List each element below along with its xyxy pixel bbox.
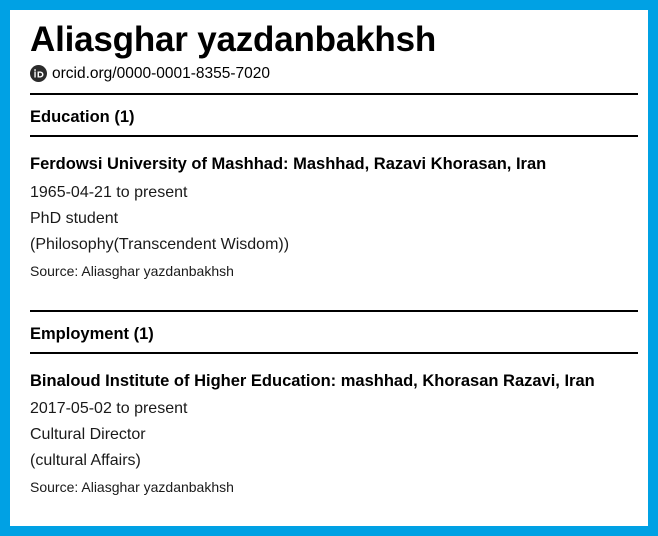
- employment-role: Cultural Director: [30, 422, 638, 448]
- education-source: Source: Aliasghar yazdanbakhsh: [30, 261, 638, 282]
- employment-department: (cultural Affairs): [30, 448, 638, 474]
- employment-organization: Binaloud Institute of Higher Education: …: [30, 371, 638, 392]
- orcid-profile-card: Aliasghar yazdanbakhsh orcid.org/0000-00…: [0, 0, 658, 536]
- section-title-employment: Employment (1): [30, 312, 638, 352]
- education-department: (Philosophy(Transcendent Wisdom)): [30, 232, 638, 258]
- education-dates: 1965-04-21 to present: [30, 180, 638, 206]
- section-spacer: [30, 282, 638, 310]
- profile-header: Aliasghar yazdanbakhsh orcid.org/0000-00…: [30, 20, 638, 82]
- employment-source: Source: Aliasghar yazdanbakhsh: [30, 477, 638, 498]
- education-role: PhD student: [30, 206, 638, 232]
- card-content: Aliasghar yazdanbakhsh orcid.org/0000-00…: [10, 10, 648, 526]
- orcid-id-link[interactable]: orcid.org/0000-0001-8355-7020: [52, 66, 270, 82]
- education-organization: Ferdowsi University of Mashhad: Mashhad,…: [30, 154, 638, 175]
- section-title-education: Education (1): [30, 95, 638, 135]
- employment-entry: Binaloud Institute of Higher Education: …: [30, 354, 638, 498]
- orcid-id-icon: [30, 65, 47, 82]
- page-title: Aliasghar yazdanbakhsh: [30, 20, 638, 59]
- orcid-id-row[interactable]: orcid.org/0000-0001-8355-7020: [30, 65, 638, 82]
- section-employment: Employment (1) Binaloud Institute of Hig…: [30, 312, 638, 498]
- section-education: Education (1) Ferdowsi University of Mas…: [30, 95, 638, 281]
- employment-dates: 2017-05-02 to present: [30, 396, 638, 422]
- education-entry: Ferdowsi University of Mashhad: Mashhad,…: [30, 137, 638, 281]
